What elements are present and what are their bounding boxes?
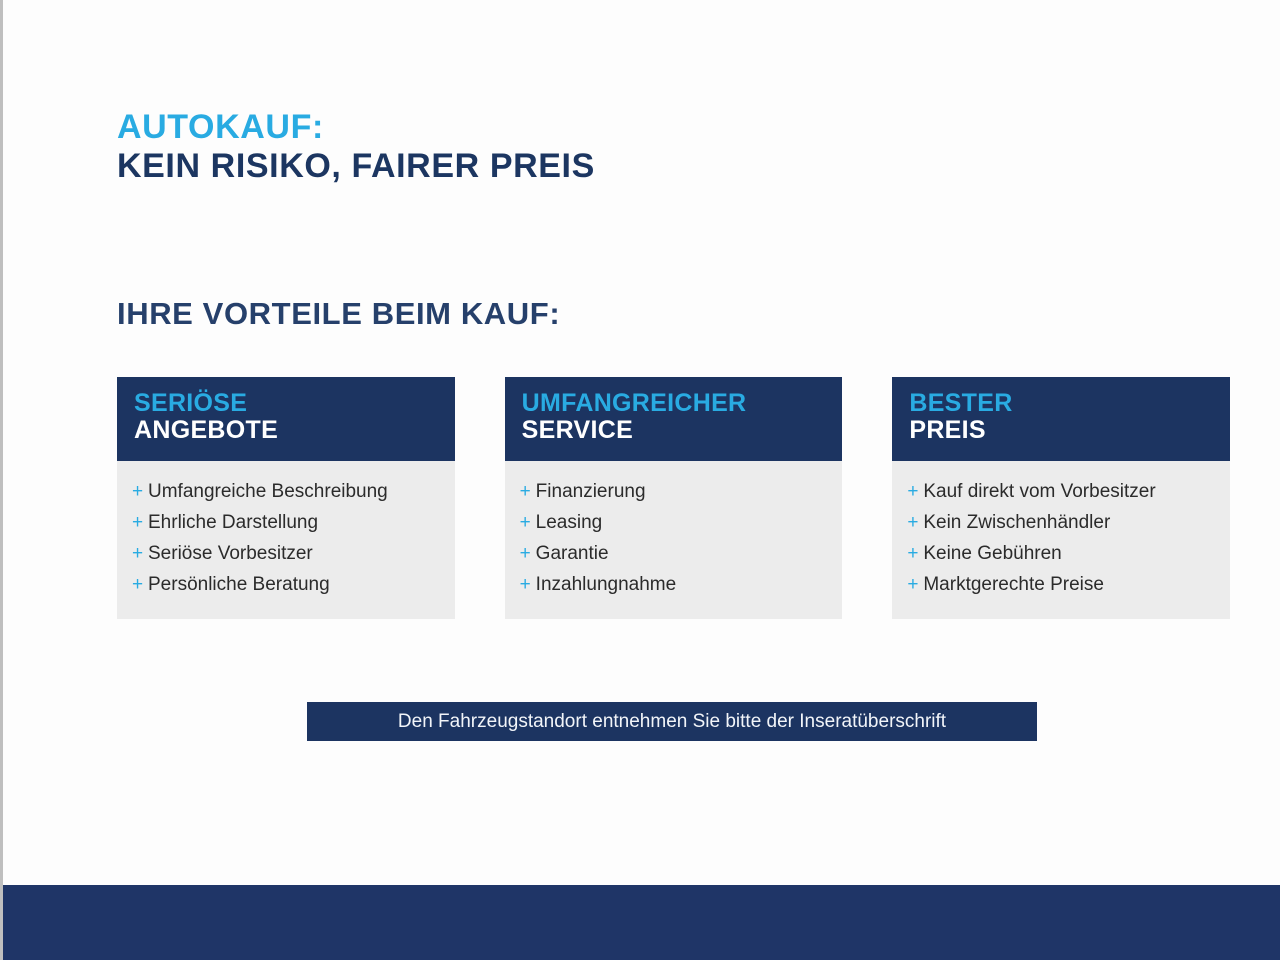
headline-line-2: KEIN RISIKO, FAIRER PREIS	[117, 147, 595, 186]
card-header-angebote: SERIÖSE ANGEBOTE	[117, 377, 455, 461]
card-title-bottom: ANGEBOTE	[134, 417, 455, 444]
card-body-preis: + Kauf direkt vom Vorbesitzer + Kein Zwi…	[892, 461, 1230, 619]
benefit-cards: SERIÖSE ANGEBOTE + Umfangreiche Beschrei…	[117, 377, 1230, 619]
feature-label: Kauf direkt vom Vorbesitzer	[923, 479, 1155, 506]
feature-item: + Seriöse Vorbesitzer	[132, 541, 445, 568]
feature-item: + Kauf direkt vom Vorbesitzer	[907, 479, 1220, 506]
feature-item: + Inzahlungnahme	[520, 572, 833, 599]
feature-label: Inzahlungnahme	[536, 572, 677, 599]
feature-item: + Garantie	[520, 541, 833, 568]
card-header-preis: BESTER PREIS	[892, 377, 1230, 461]
location-notice-banner: Den Fahrzeugstandort entnehmen Sie bitte…	[307, 702, 1037, 741]
location-notice-text: Den Fahrzeugstandort entnehmen Sie bitte…	[398, 711, 946, 733]
card-title-bottom: SERVICE	[522, 417, 843, 444]
feature-item: + Marktgerechte Preise	[907, 572, 1220, 599]
section-heading: IHRE VORTEILE BEIM KAUF:	[117, 296, 560, 332]
plus-icon: +	[132, 482, 148, 501]
feature-label: Seriöse Vorbesitzer	[148, 541, 313, 568]
left-edge-rule	[0, 0, 3, 960]
card-title-top: BESTER	[909, 390, 1230, 417]
slide-canvas: AUTOKAUF: KEIN RISIKO, FAIRER PREIS IHRE…	[0, 0, 1280, 960]
plus-icon: +	[907, 482, 923, 501]
card-body-service: + Finanzierung + Leasing + Garantie + In…	[505, 461, 843, 619]
plus-icon: +	[132, 544, 148, 563]
plus-icon: +	[520, 482, 536, 501]
benefit-card-angebote: SERIÖSE ANGEBOTE + Umfangreiche Beschrei…	[117, 377, 455, 619]
card-header-service: UMFANGREICHER SERVICE	[505, 377, 843, 461]
feature-label: Kein Zwischenhändler	[923, 510, 1110, 537]
feature-label: Umfangreiche Beschreibung	[148, 479, 388, 506]
feature-label: Garantie	[536, 541, 609, 568]
feature-item: + Persönliche Beratung	[132, 572, 445, 599]
plus-icon: +	[907, 513, 923, 532]
benefit-card-preis: BESTER PREIS + Kauf direkt vom Vorbesitz…	[892, 377, 1230, 619]
feature-item: + Ehrliche Darstellung	[132, 510, 445, 537]
plus-icon: +	[907, 575, 923, 594]
benefit-card-service: UMFANGREICHER SERVICE + Finanzierung + L…	[505, 377, 843, 619]
feature-item: + Keine Gebühren	[907, 541, 1220, 568]
card-title-top: SERIÖSE	[134, 390, 455, 417]
footer-bar: www.cargentur.de info@cargentur.de CARGE…	[0, 885, 1280, 960]
feature-item: + Kein Zwischenhändler	[907, 510, 1220, 537]
feature-label: Marktgerechte Preise	[923, 572, 1104, 599]
card-body-angebote: + Umfangreiche Beschreibung + Ehrliche D…	[117, 461, 455, 619]
plus-icon: +	[520, 575, 536, 594]
plus-icon: +	[132, 513, 148, 532]
feature-item: + Finanzierung	[520, 479, 833, 506]
plus-icon: +	[132, 575, 148, 594]
feature-label: Finanzierung	[536, 479, 646, 506]
headline: AUTOKAUF: KEIN RISIKO, FAIRER PREIS	[117, 108, 595, 186]
headline-line-1: AUTOKAUF:	[117, 108, 595, 147]
feature-label: Keine Gebühren	[923, 541, 1061, 568]
feature-label: Leasing	[536, 510, 603, 537]
plus-icon: +	[520, 544, 536, 563]
feature-label: Ehrliche Darstellung	[148, 510, 318, 537]
plus-icon: +	[907, 544, 923, 563]
feature-label: Persönliche Beratung	[148, 572, 330, 599]
feature-item: + Leasing	[520, 510, 833, 537]
plus-icon: +	[520, 513, 536, 532]
card-title-bottom: PREIS	[909, 417, 1230, 444]
feature-item: + Umfangreiche Beschreibung	[132, 479, 445, 506]
card-title-top: UMFANGREICHER	[522, 390, 843, 417]
